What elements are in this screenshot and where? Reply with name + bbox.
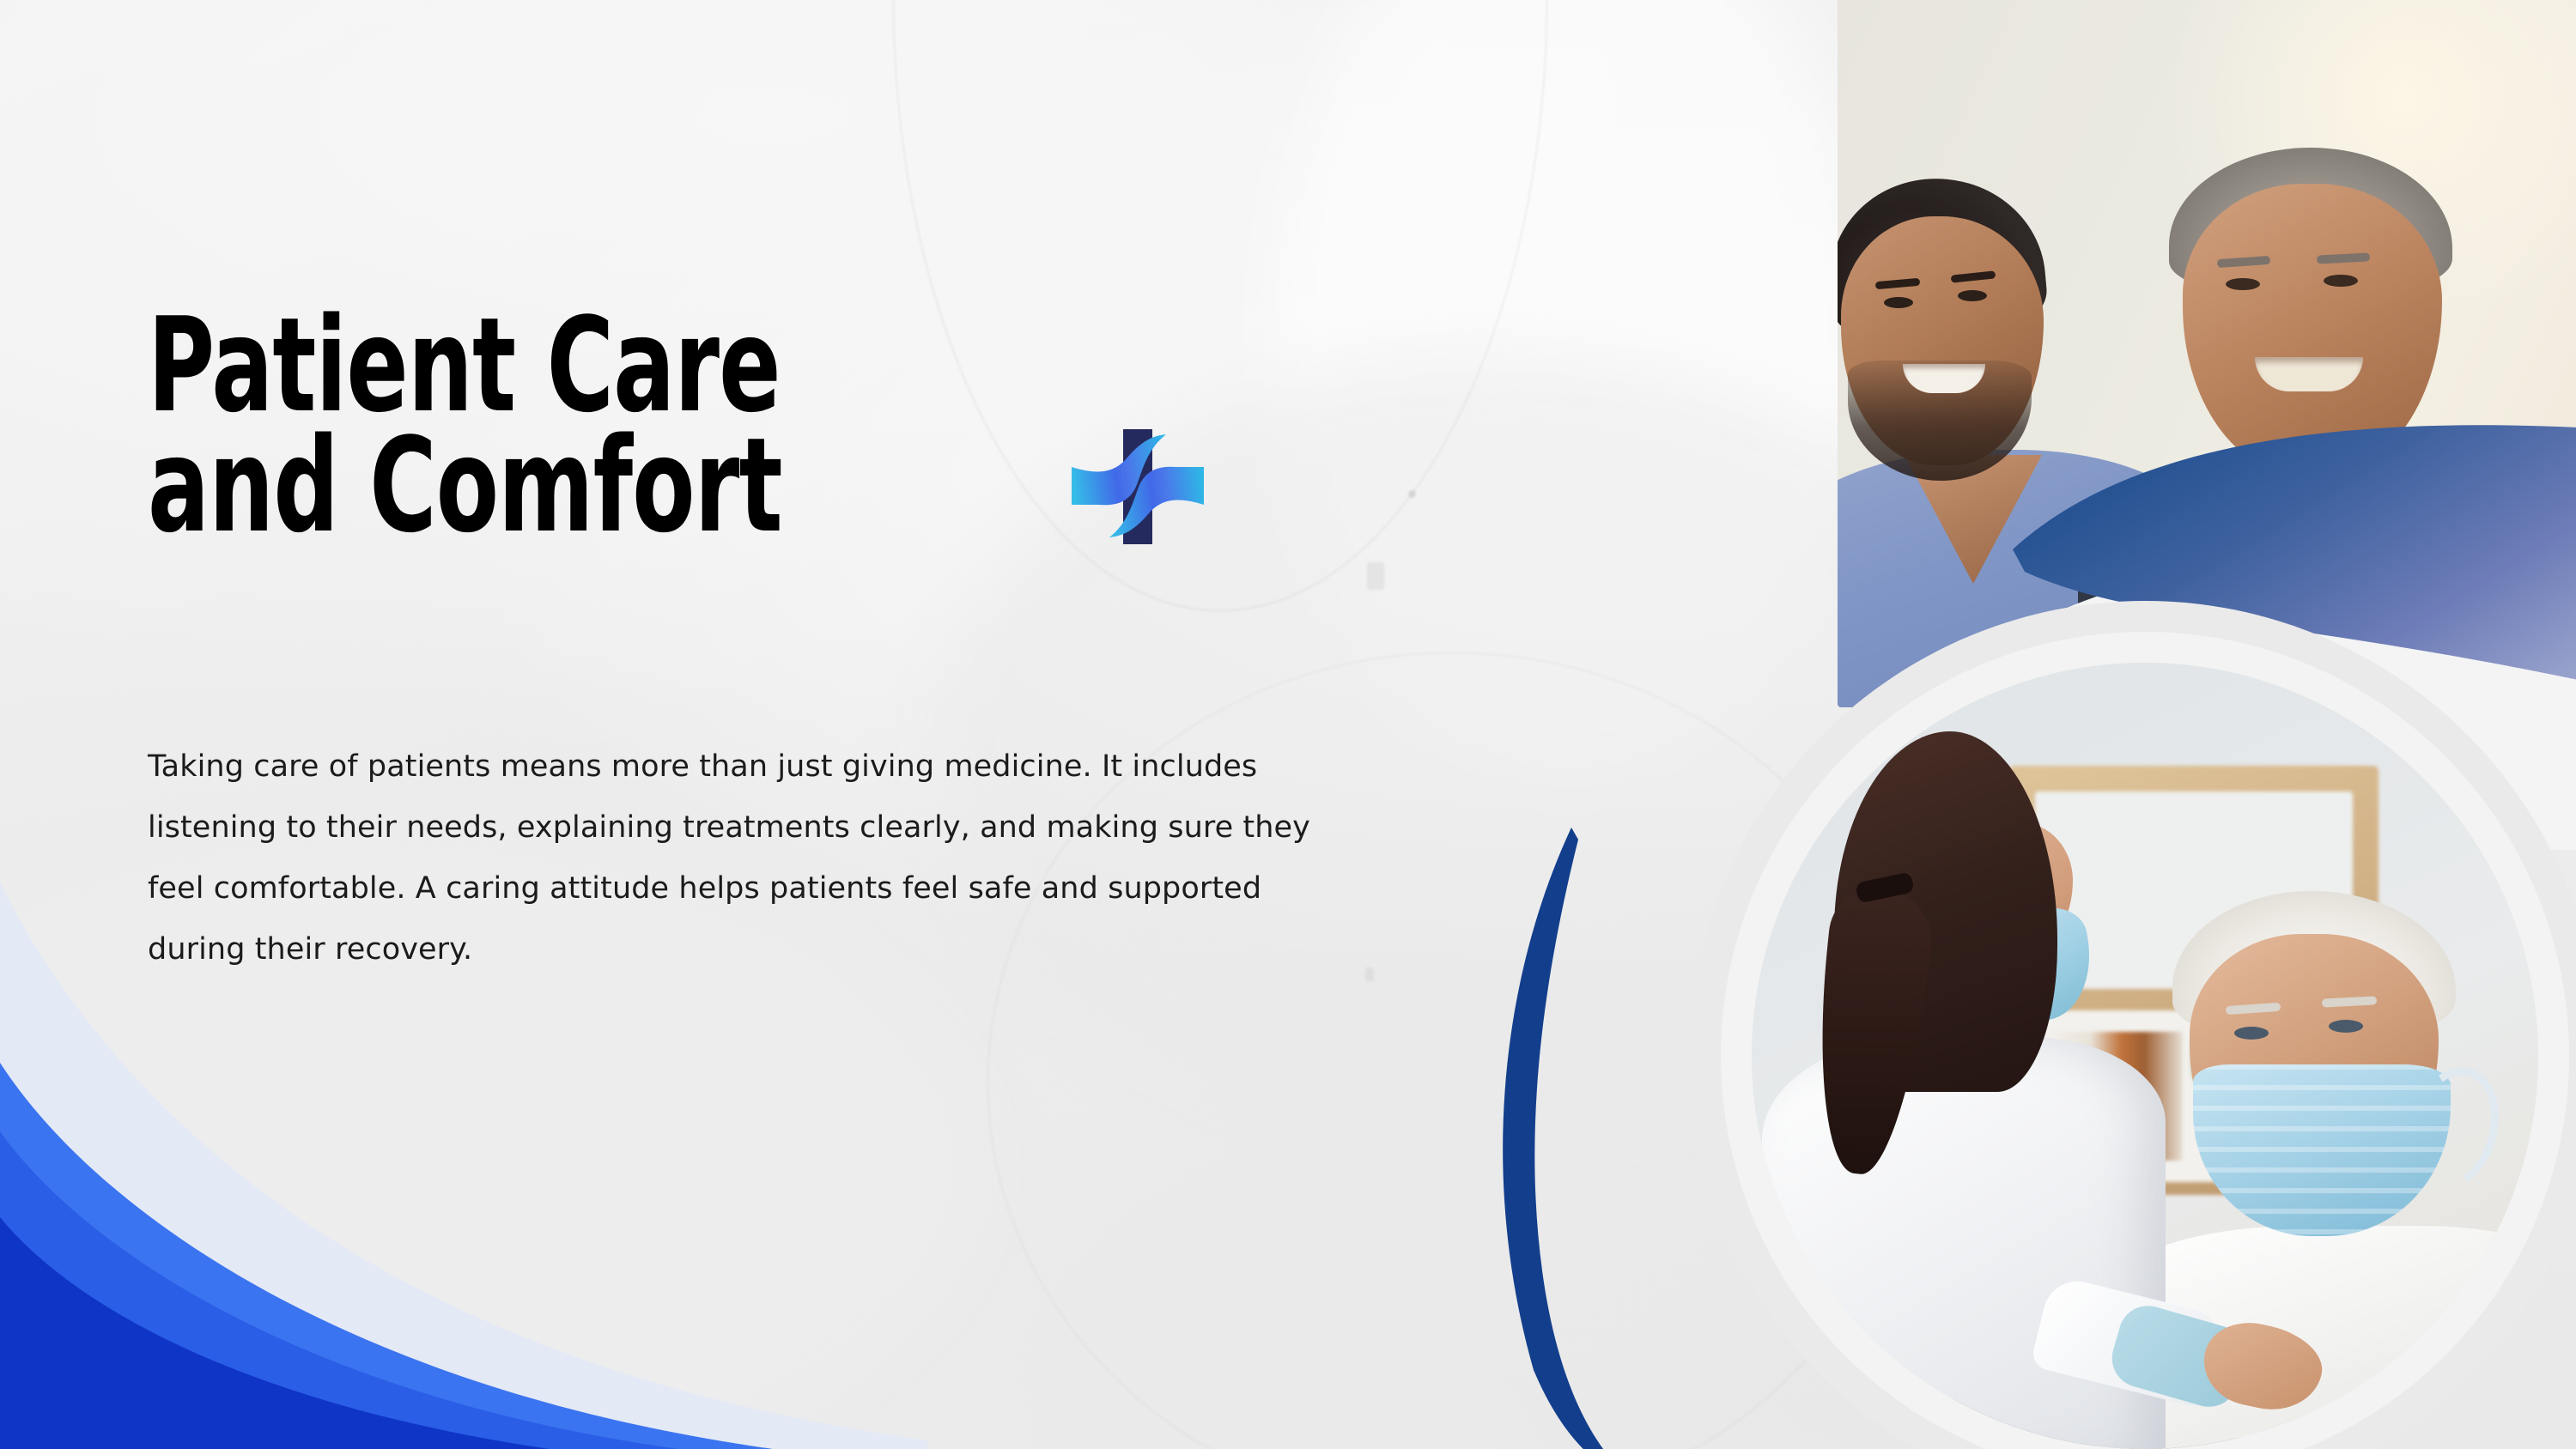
background-dot	[1408, 490, 1416, 498]
page-title: Patient Care and Comfort	[148, 306, 898, 546]
background-tick-b	[1365, 967, 1374, 981]
background-tick-a	[1367, 562, 1384, 590]
figure-female-doctor	[1784, 694, 2179, 1449]
medical-cross-logo-icon	[1070, 427, 1206, 546]
photo-doctor-comforting-elderly-patient	[1752, 663, 2538, 1449]
photo-nurse-with-patient	[1838, 0, 2576, 707]
body-paragraph: Taking care of patients means more than …	[148, 737, 1358, 980]
slide-canvas: Patient Care and Comfort Taking care of …	[0, 0, 2576, 1449]
